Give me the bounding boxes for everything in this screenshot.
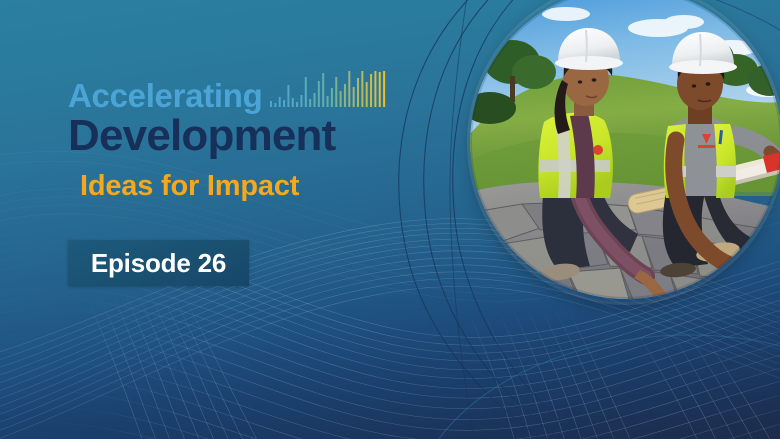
episode-badge-label: Episode 26 [91, 250, 226, 276]
brand-title-block: Accelerating Development Ideas for Impac… [68, 72, 468, 201]
waveform-bar [336, 77, 338, 107]
waveform-bar [349, 71, 351, 107]
waveform-bar [318, 81, 320, 107]
waveform-bar [297, 102, 299, 107]
waveform-bar [305, 77, 307, 107]
waveform-bar [353, 87, 355, 107]
waveform-bar [366, 82, 368, 107]
waveform-bar [327, 96, 329, 107]
waveform-bar [275, 103, 277, 107]
waveform-bar [362, 71, 364, 107]
subtitle-ideas-for-impact: Ideas for Impact [80, 172, 468, 201]
waveform-bar [357, 78, 359, 107]
waveform-bar [371, 74, 373, 107]
title-row-accelerating: Accelerating [68, 72, 468, 112]
waveform-bar [284, 100, 286, 107]
title-accelerating: Accelerating [68, 79, 262, 112]
waveform-bar [384, 71, 386, 107]
waveform-bar [301, 95, 303, 107]
waveform-bar [375, 71, 377, 107]
podcast-cover-slide: Accelerating Development Ideas for Impac… [0, 0, 780, 439]
waveform-bar [292, 98, 294, 107]
waveform-bar [310, 99, 312, 107]
audio-waveform-icon [268, 71, 386, 111]
waveform-bar [314, 93, 316, 107]
waveform-bar [279, 97, 281, 107]
episode-cover-photo [470, 0, 780, 302]
title-development: Development [68, 114, 468, 158]
waveform-bar [323, 73, 325, 107]
waveform-bar [344, 84, 346, 107]
waveform-bar [340, 91, 342, 107]
waveform-bar [270, 101, 272, 107]
waveform-bar [379, 72, 381, 107]
waveform-bar [331, 88, 333, 107]
waveform-bar [288, 85, 290, 107]
episode-badge: Episode 26 [68, 240, 249, 286]
